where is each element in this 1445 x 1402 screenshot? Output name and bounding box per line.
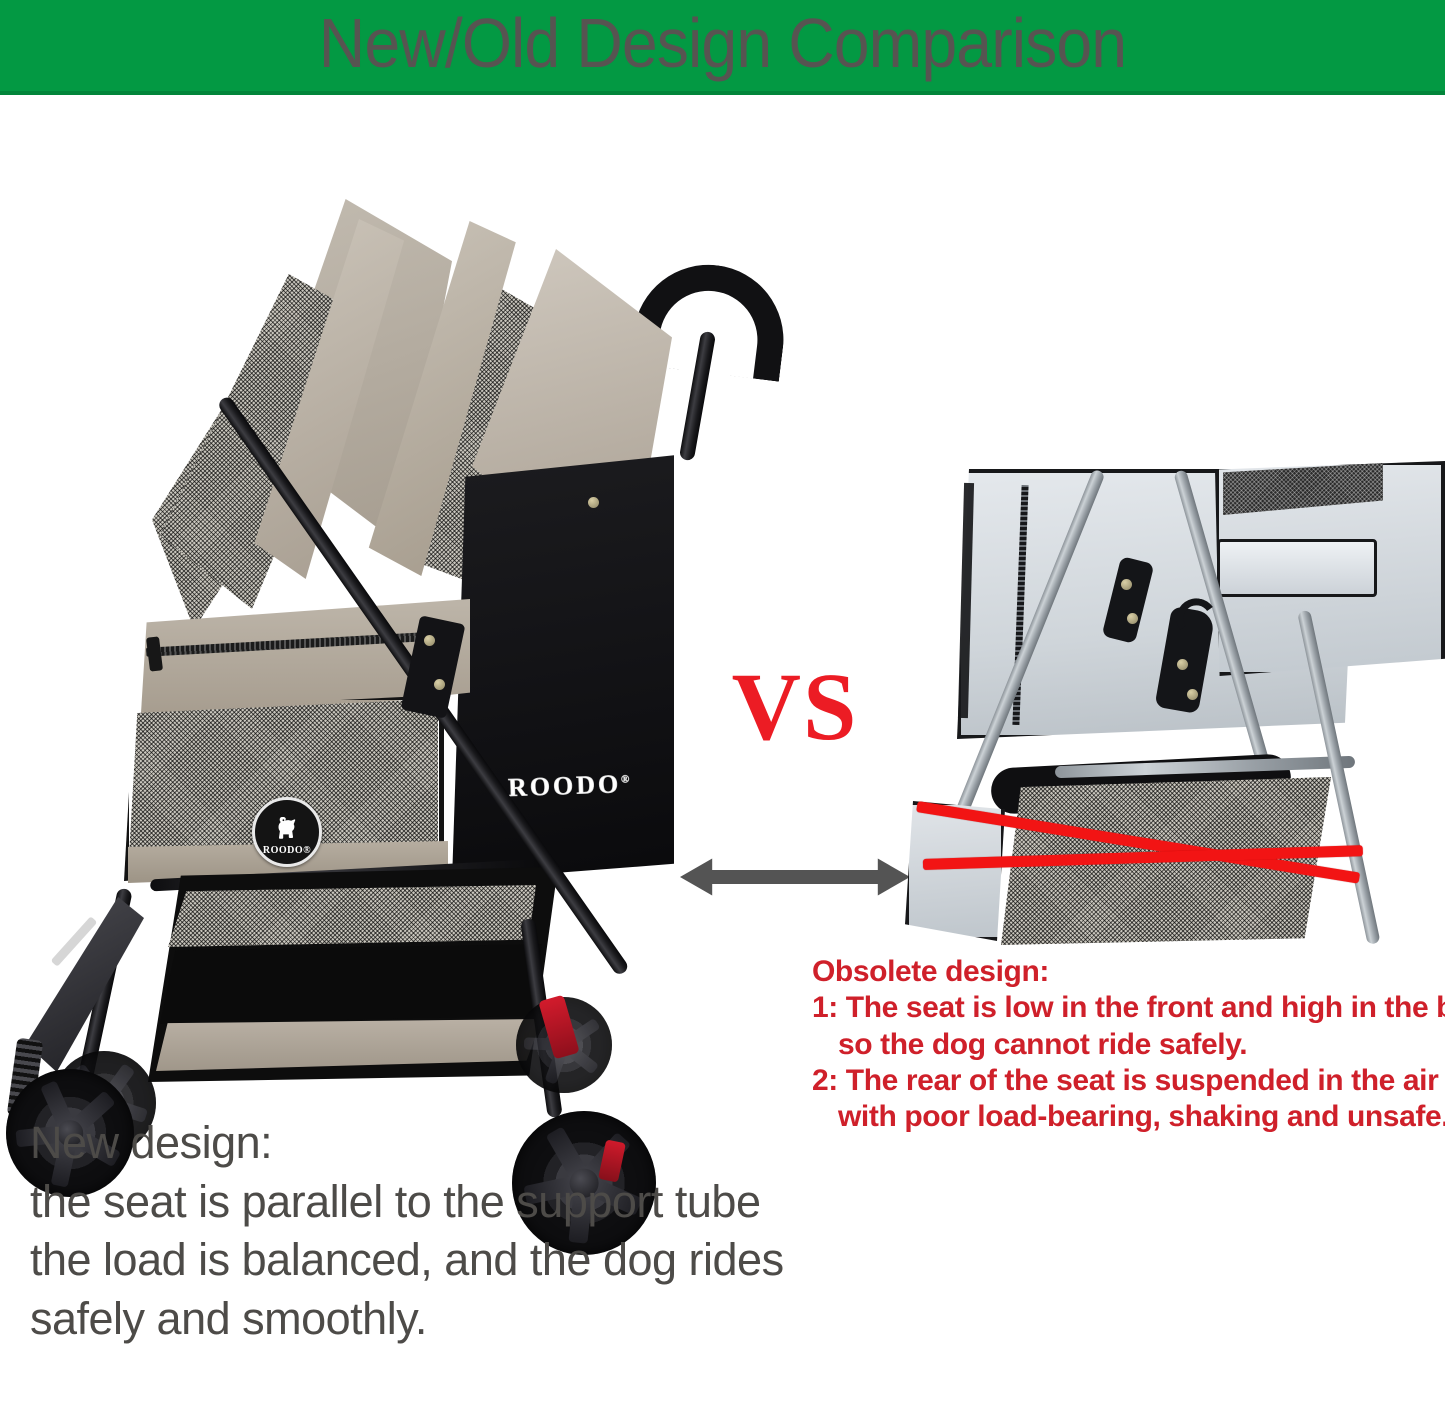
stroller-body-panel — [452, 451, 674, 881]
page-title: New/Old Design Comparison — [58, 3, 1387, 83]
badge-label: ROODO® — [255, 845, 319, 856]
old-design-caption-line-3: 2: The rear of the seat is suspended in … — [812, 1063, 1442, 1099]
new-design-caption: New design: the seat is parallel to the … — [30, 1114, 790, 1348]
basket-mesh-upper — [168, 885, 536, 947]
old-design-stroller-photo — [905, 461, 1445, 961]
old-design-caption: Obsolete design: 1: The seat is low in t… — [812, 954, 1442, 1135]
new-design-caption-line-3: safely and smoothly. — [30, 1290, 790, 1349]
old-design-caption-line-1: 1: The seat is low in the front and high… — [812, 990, 1442, 1026]
old-hinge-rivet-2 — [1127, 613, 1138, 624]
roodo-wordmark: ROODO® — [508, 769, 633, 803]
old-latch-rivet-2 — [1187, 689, 1198, 700]
new-design-caption-line-1: the seat is parallel to the support tube — [30, 1173, 790, 1232]
old-hinge-rivet-1 — [1121, 579, 1132, 590]
header-banner: New/Old Design Comparison — [0, 0, 1445, 95]
comparison-infographic: New/Old Design Comparison ROODO® — [0, 0, 1445, 1402]
roodo-wordmark-text: ROODO — [508, 769, 622, 802]
hinge-rivet-1 — [424, 635, 435, 646]
frame-rivet-rear — [588, 497, 599, 508]
new-design-caption-heading: New design: — [30, 1114, 790, 1173]
versus-label: VS — [680, 659, 910, 755]
new-design-caption-line-2: the load is balanced, and the dog rides — [30, 1231, 790, 1290]
registered-mark-icon: ® — [621, 773, 633, 785]
old-design-caption-line-2: so the dog cannot ride safely. — [812, 1027, 1442, 1063]
dog-silhouette-icon — [274, 814, 300, 842]
basket-mesh-lower — [160, 944, 542, 1024]
old-side-pocket — [1217, 539, 1377, 597]
old-design-caption-heading: Obsolete design: — [812, 954, 1442, 990]
content-area: ROODO® ROODO® — [0, 99, 1445, 1402]
hinge-rivet-2 — [434, 679, 445, 690]
old-latch-rivet-1 — [1177, 659, 1188, 670]
double-headed-arrow-icon — [680, 855, 910, 899]
old-design-caption-line-4: with poor load-bearing, shaking and unsa… — [812, 1099, 1442, 1135]
new-design-stroller-photo: ROODO® ROODO® — [0, 99, 700, 1159]
versus-block: VS — [680, 659, 910, 909]
roodo-logo-badge: ROODO® — [252, 797, 322, 867]
